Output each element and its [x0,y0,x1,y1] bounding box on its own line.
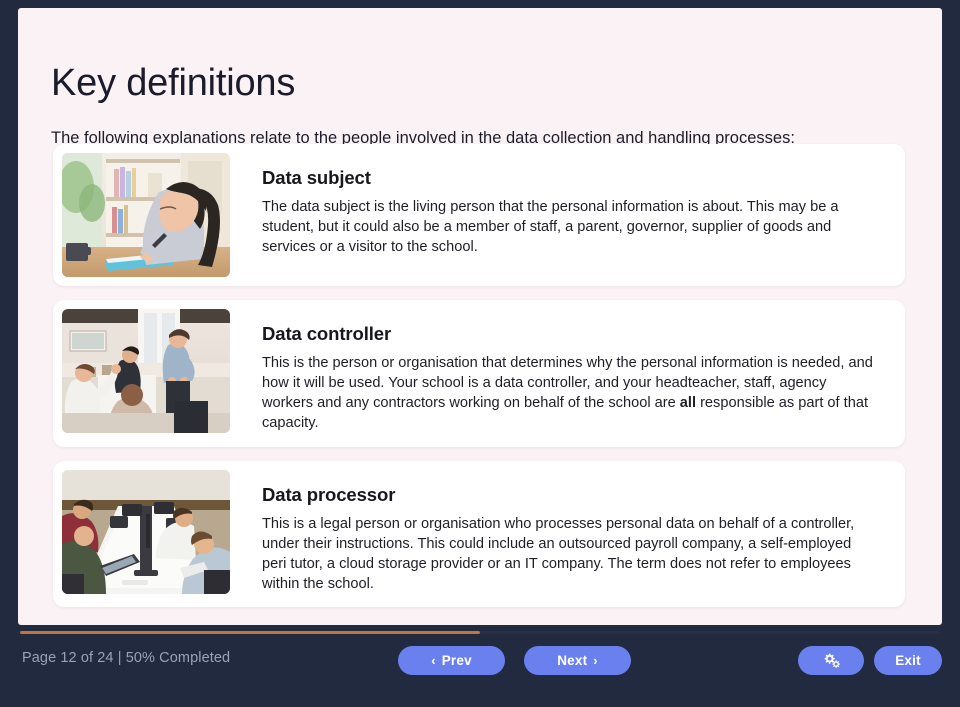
card-text: This is a legal person or organisation w… [262,514,874,595]
photo-people-working-at-long-desk [62,470,230,594]
settings-button[interactable] [798,646,864,675]
card-text: This is the person or organisation that … [262,353,874,434]
utility-buttons: Exit [798,646,942,675]
photo-student-writing-at-desk [62,153,230,277]
slide-panel: Key definitions The following explanatio… [18,8,942,625]
prev-button[interactable]: ‹ Prev [398,646,505,675]
card-title: Data subject [262,167,874,189]
page-title: Key definitions [51,63,295,105]
card-body: Data controller This is the person or or… [230,309,896,438]
next-button[interactable]: Next › [524,646,631,675]
exit-button[interactable]: Exit [874,646,942,675]
definition-card-data-processor: Data processor This is a legal person or… [53,461,905,608]
chevron-left-icon: ‹ [431,654,436,667]
definition-card-data-subject: Data subject The data subject is the liv… [53,144,905,286]
photo-office-team-meeting [62,309,230,433]
exit-button-label: Exit [895,653,921,668]
prev-button-label: Prev [442,653,472,668]
course-player-frame: Key definitions The following explanatio… [0,0,960,707]
navigation-buttons: ‹ Prev Next › [398,646,631,675]
card-title: Data controller [262,323,874,345]
cogs-icon [823,653,840,668]
next-button-label: Next [557,653,587,668]
card-title: Data processor [262,484,874,506]
definition-card-data-controller: Data controller This is the person or or… [53,300,905,447]
progress-bar-fill [20,631,480,634]
card-body: Data processor This is a legal person or… [230,470,896,599]
card-text: The data subject is the living person th… [262,197,874,257]
chevron-right-icon: › [593,654,598,667]
page-status-text: Page 12 of 24 | 50% Completed [22,650,230,666]
definition-card-list: Data subject The data subject is the liv… [53,144,905,621]
card-text-emphasis: all [680,395,696,411]
card-body: Data subject The data subject is the liv… [230,153,896,261]
progress-bar-track [20,631,940,634]
